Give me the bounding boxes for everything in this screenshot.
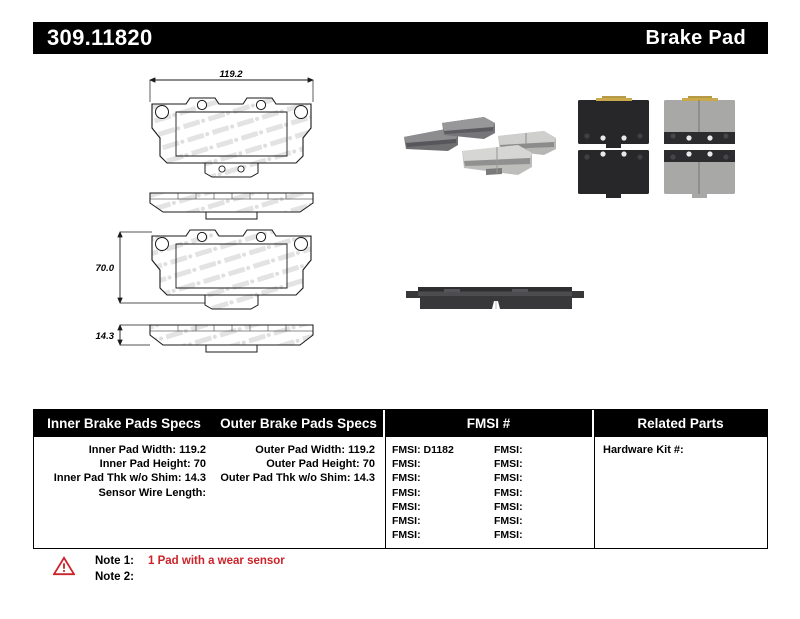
note-1-row: Note 1: 1 Pad with a wear sensor [95,553,285,569]
inner-spec-row: Inner Pad Height: 70 [34,457,206,471]
warning-triangle-icon [53,556,75,576]
document-header-bar: 309.11820 Brake Pad [33,22,768,54]
note-1-label: Note 1: [95,553,141,569]
fmsi-row: FMSI: [494,471,589,485]
table-header-fmsi: FMSI # [385,410,592,437]
photo-pad-edge-profile [400,265,590,325]
table-header-outer-specs: Outer Brake Pads Specs [214,410,383,437]
fmsi-row: FMSI: [392,528,494,542]
pad-backing-plate-top-left [578,96,649,148]
fmsi-column: FMSI: D1182 FMSI: FMSI: FMSI: FMSI: FMSI… [385,437,594,549]
notes-section: Note 1: 1 Pad with a wear sensor Note 2: [33,553,533,597]
inner-spec-row: Inner Pad Width: 119.2 [34,443,206,457]
outer-spec-row: Outer Pad Width: 119.2 [214,443,375,457]
fmsi-row: FMSI: [494,500,589,514]
note-lines: Note 1: 1 Pad with a wear sensor Note 2: [95,553,285,585]
fmsi-subcolumn-1: FMSI: D1182 FMSI: FMSI: FMSI: FMSI: FMSI… [392,443,494,549]
top-pad-drawing [150,80,313,219]
outer-spec-row: Outer Pad Height: 70 [214,457,375,471]
note-2-row: Note 2: [95,569,285,585]
fmsi-row: FMSI: [392,514,494,528]
fmsi-row: FMSI: [494,514,589,528]
photo-angled-pad-set [398,93,578,193]
part-number: 309.11820 [47,27,152,49]
fmsi-row: FMSI: [392,500,494,514]
fmsi-row: FMSI: [392,471,494,485]
fmsi-row: FMSI: [494,528,589,542]
note-2-label: Note 2: [95,569,141,585]
specifications-table: Inner Brake Pads Specs Outer Brake Pads … [33,409,768,549]
note-1-value: 1 Pad with a wear sensor [148,553,285,569]
table-header-inner-specs: Inner Brake Pads Specs [34,410,214,437]
bottom-pad-drawing [120,230,313,352]
pad-friction-face-top-right [664,96,735,144]
outer-spec-row: Outer Pad Thk w/o Shim: 14.3 [214,471,375,485]
dimension-thickness-text: 14.3 [96,331,115,342]
fmsi-row: FMSI: [392,457,494,471]
page-title: Brake Pad [645,28,746,48]
dimension-height-text: 70.0 [96,263,115,274]
outer-specs-column: Outer Pad Width: 119.2 Outer Pad Height:… [214,437,385,549]
dimension-width-text: 119.2 [219,69,243,80]
product-illustration-area: 119.2 70.0 14.3 [0,60,800,390]
fmsi-row: FMSI: D1182 [392,443,494,457]
inner-spec-row: Inner Pad Thk w/o Shim: 14.3 [34,471,206,485]
pad-friction-face-bottom-right [664,150,735,198]
related-part-row: Hardware Kit #: [603,443,767,457]
table-body: Inner Pad Width: 119.2 Inner Pad Height:… [34,437,767,549]
related-parts-column: Hardware Kit #: [594,437,767,549]
fmsi-subcolumn-2: FMSI: FMSI: FMSI: FMSI: FMSI: FMSI: FMSI… [494,443,589,549]
pad-backing-plate-bottom-left [578,150,649,198]
inner-specs-column: Inner Pad Width: 119.2 Inner Pad Height:… [34,437,214,549]
fmsi-row: FMSI: [494,486,589,500]
fmsi-row: FMSI: [494,457,589,471]
table-header-related-parts: Related Parts [594,410,767,437]
table-header-row: Inner Brake Pads Specs Outer Brake Pads … [34,410,767,437]
photo-pad-faces-grid [566,88,746,206]
inner-spec-row: Sensor Wire Length: [34,486,206,500]
fmsi-row: FMSI: [392,486,494,500]
fmsi-row: FMSI: [494,443,589,457]
